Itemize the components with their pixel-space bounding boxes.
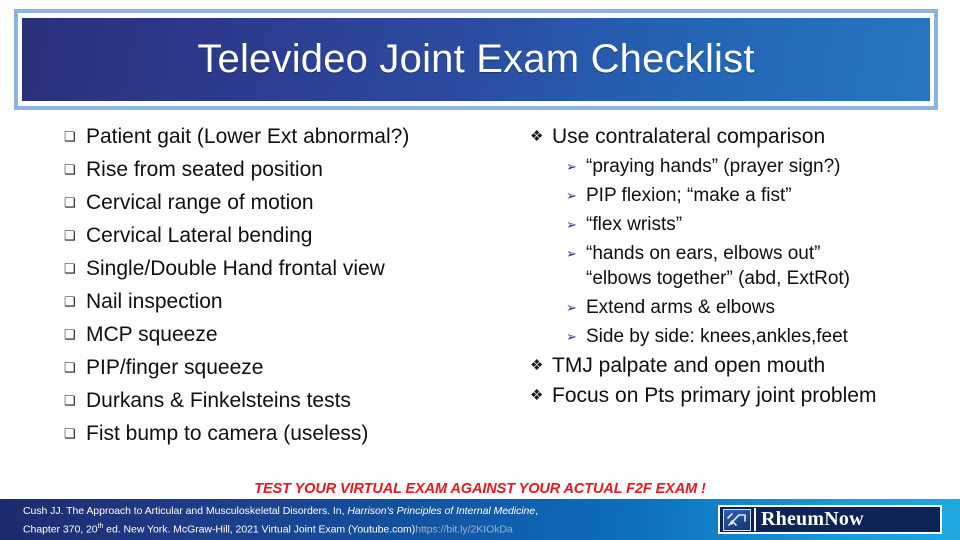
list-item-label: MCP squeeze <box>86 322 218 348</box>
list-item: ❑ Rise from seated position <box>64 157 504 183</box>
sub-list-item-label: PIP flexion; “make a fist” <box>586 183 792 208</box>
list-item-label: Fist bump to camera (useless) <box>86 421 368 447</box>
sub-list-item: ➢ Side by side: knees,ankles,feet <box>566 324 950 349</box>
citation-link[interactable]: https://bit.ly/2KIOkDa <box>415 524 513 536</box>
list-item: ❑ Cervical range of motion <box>64 190 504 216</box>
logo-wordmark: RheumNow <box>761 508 864 531</box>
sub-list-item: ➢ “hands on ears, elbows out” “elbows to… <box>566 241 950 291</box>
sub-list-item: ➢ Extend arms & elbows <box>566 295 950 320</box>
square-bullet-icon: ❑ <box>64 157 86 183</box>
square-bullet-icon: ❑ <box>64 322 86 348</box>
arrow-bullet-icon: ➢ <box>566 183 586 208</box>
sub-list-item: ➢ PIP flexion; “make a fist” <box>566 183 950 208</box>
slide-content: ❑ Patient gait (Lower Ext abnormal?) ❑ R… <box>0 124 960 474</box>
sub-list-item-label: “flex wrists” <box>586 212 682 237</box>
sub-list-item-label: Extend arms & elbows <box>586 295 775 320</box>
sub-list-item: ➢ “praying hands” (prayer sign?) <box>566 154 950 179</box>
citation: Cush JJ. The Approach to Articular and M… <box>23 504 683 538</box>
square-bullet-icon: ❑ <box>64 190 86 216</box>
square-bullet-icon: ❑ <box>64 421 86 447</box>
list-item: ❑ Single/Double Hand frontal view <box>64 256 504 282</box>
list-item-label: PIP/finger squeeze <box>86 355 263 381</box>
page-title: Televideo Joint Exam Checklist <box>197 37 754 82</box>
square-bullet-icon: ❑ <box>64 256 86 282</box>
citation-line2-post: ed. New York. McGraw-Hill, 2021 Virtual … <box>103 524 415 536</box>
list-item-label: Use contralateral comparison <box>552 124 825 150</box>
arrow-bullet-icon: ➢ <box>566 154 586 179</box>
citation-source-title: Harrison's Principles of Internal Medici… <box>347 505 535 517</box>
square-bullet-icon: ❑ <box>64 289 86 315</box>
citation-line1-pre: Cush JJ. The Approach to Articular and M… <box>23 505 347 517</box>
list-item-label: Durkans & Finkelsteins tests <box>86 388 351 414</box>
checklist-right-column: ❖ Use contralateral comparison ➢ “prayin… <box>530 124 950 413</box>
arrow-bullet-icon: ➢ <box>566 324 586 349</box>
diamond-bullet-icon: ❖ <box>530 383 552 409</box>
citation-line2-pre: Chapter 370, 20 <box>23 524 98 536</box>
sub-list-item-label: “hands on ears, elbows out” “elbows toge… <box>586 241 850 291</box>
list-item-label: TMJ palpate and open mouth <box>552 353 825 379</box>
citation-line1-post: , <box>535 505 538 517</box>
square-bullet-icon: ❑ <box>64 355 86 381</box>
list-item-label: Cervical range of motion <box>86 190 314 216</box>
diamond-bullet-icon: ❖ <box>530 124 552 150</box>
list-item: ❑ MCP squeeze <box>64 322 504 348</box>
square-bullet-icon: ❑ <box>64 124 86 150</box>
sub-list-item-label: “praying hands” (prayer sign?) <box>586 154 841 179</box>
list-item-label: Focus on Pts primary joint problem <box>552 383 876 409</box>
title-banner: Televideo Joint Exam Checklist <box>22 18 930 101</box>
arrow-bullet-icon: ➢ <box>566 241 586 266</box>
list-item-label: Rise from seated position <box>86 157 323 183</box>
arrow-bullet-icon: ➢ <box>566 295 586 320</box>
checklist-left-column: ❑ Patient gait (Lower Ext abnormal?) ❑ R… <box>64 124 504 454</box>
list-item: ❑ PIP/finger squeeze <box>64 355 504 381</box>
diamond-bullet-icon: ❖ <box>530 353 552 379</box>
sub-list-item: ➢ “flex wrists” <box>566 212 950 237</box>
rheumnow-mark-icon <box>723 509 751 531</box>
list-item-label: Patient gait (Lower Ext abnormal?) <box>86 124 409 150</box>
list-item: ❖ Focus on Pts primary joint problem <box>530 383 950 409</box>
list-item-label: Cervical Lateral bending <box>86 223 312 249</box>
list-item: ❖ TMJ palpate and open mouth <box>530 353 950 379</box>
list-item: ❑ Fist bump to camera (useless) <box>64 421 504 447</box>
callout-text: TEST YOUR VIRTUAL EXAM AGAINST YOUR ACTU… <box>0 481 960 497</box>
square-bullet-icon: ❑ <box>64 388 86 414</box>
list-item-label: Nail inspection <box>86 289 223 315</box>
list-item: ❑ Durkans & Finkelsteins tests <box>64 388 504 414</box>
logo-divider <box>754 508 756 531</box>
list-item: ❖ Use contralateral comparison <box>530 124 950 150</box>
sub-list-item-label: Side by side: knees,ankles,feet <box>586 324 848 349</box>
list-item: ❑ Nail inspection <box>64 289 504 315</box>
list-item: ❑ Patient gait (Lower Ext abnormal?) <box>64 124 504 150</box>
list-item: ❑ Cervical Lateral bending <box>64 223 504 249</box>
list-item-label: Single/Double Hand frontal view <box>86 256 385 282</box>
arrow-bullet-icon: ➢ <box>566 212 586 237</box>
rheumnow-logo[interactable]: RheumNow <box>718 505 942 534</box>
square-bullet-icon: ❑ <box>64 223 86 249</box>
